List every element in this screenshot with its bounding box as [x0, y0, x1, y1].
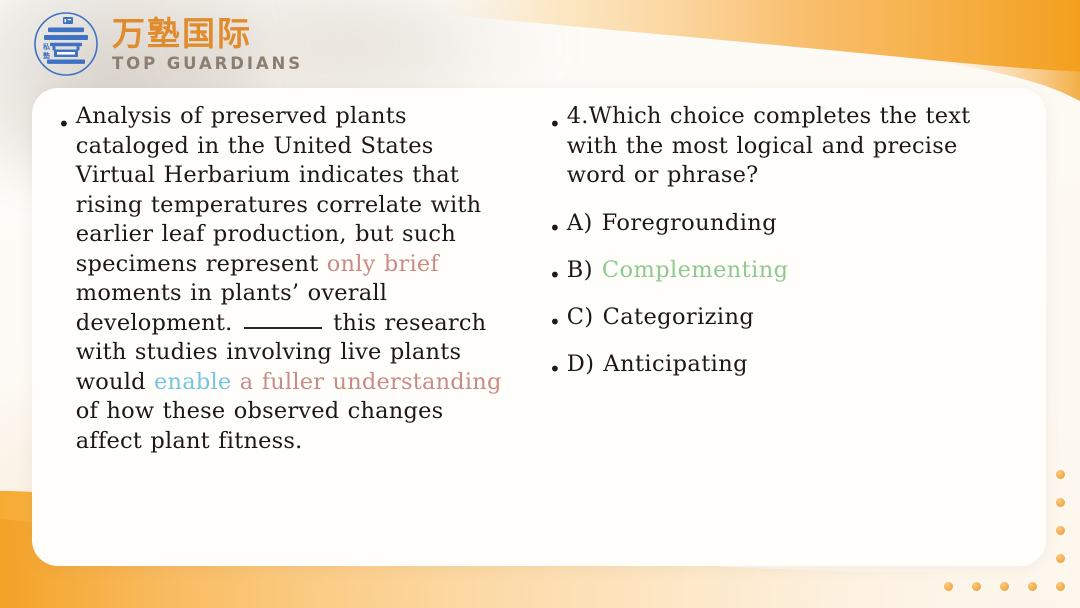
svg-text:塾: 塾 — [43, 51, 50, 60]
choice-a-text: Foregrounding — [602, 210, 777, 236]
seal-circle-logo-icon: 私 塾 — [30, 8, 102, 80]
choice-option-b[interactable]: • B)Complementing — [549, 255, 1032, 285]
brand-name-cn: 万塾国际 — [112, 16, 303, 53]
passage-column: • Analysis of preserved plants cataloged… — [40, 102, 539, 556]
choice-option-a[interactable]: • A)Foregrounding — [549, 208, 1032, 238]
choice-c-line: C)Categorizing — [567, 302, 754, 332]
choice-a-letter: A) — [567, 210, 593, 236]
brand-wordmark: 万塾国际 TOP GUARDIANS — [112, 14, 303, 74]
choice-a-line: A)Foregrounding — [567, 208, 777, 238]
choice-b-line: B)Complementing — [567, 255, 789, 285]
passage-highlight-only-brief: only brief — [327, 251, 439, 277]
question-column: • 4.Which choice completes the text with… — [539, 102, 1038, 556]
question-prompt: Which choice completes the text with the… — [567, 103, 971, 188]
passage-blank-underline — [244, 327, 322, 329]
question-block: • 4.Which choice completes the text with… — [549, 102, 1032, 191]
question-text: 4.Which choice completes the text with t… — [567, 102, 1007, 191]
passage-bullet-item: • Analysis of preserved plants cataloged… — [58, 102, 535, 456]
bullet-point-icon: • — [549, 312, 561, 332]
choice-option-c[interactable]: • C)Categorizing — [549, 302, 1032, 332]
choice-d-letter: D) — [567, 351, 595, 377]
brand-header: 私 塾 万塾国际 TOP GUARDIANS — [30, 8, 303, 80]
passage-seg-6 — [231, 369, 239, 395]
passage-seg-8: of how these observed changes affect pla… — [76, 398, 444, 454]
passage-highlight-enable: enable — [154, 369, 231, 395]
choice-c-text: Categorizing — [603, 304, 755, 330]
choice-b-text: Complementing — [602, 257, 789, 283]
passage-text: Analysis of preserved plants cataloged i… — [76, 102, 506, 456]
choice-c-letter: C) — [567, 304, 594, 330]
choice-d-line: D)Anticipating — [567, 349, 748, 379]
content-card: • Analysis of preserved plants cataloged… — [32, 88, 1046, 566]
bullet-point-icon: • — [549, 265, 561, 285]
brand-name-en: TOP GUARDIANS — [112, 54, 303, 74]
bullet-point-icon: • — [549, 114, 561, 134]
bullet-point-icon: • — [549, 359, 561, 379]
bullet-point-icon: • — [58, 114, 70, 134]
choice-b-letter: B) — [567, 257, 593, 283]
choice-option-d[interactable]: • D)Anticipating — [549, 349, 1032, 379]
choice-d-text: Anticipating — [603, 351, 748, 377]
bullet-point-icon: • — [549, 218, 561, 238]
passage-highlight-fuller-understanding: a fuller understanding — [240, 369, 502, 395]
question-number: 4. — [567, 103, 589, 129]
svg-text:私: 私 — [42, 42, 50, 51]
